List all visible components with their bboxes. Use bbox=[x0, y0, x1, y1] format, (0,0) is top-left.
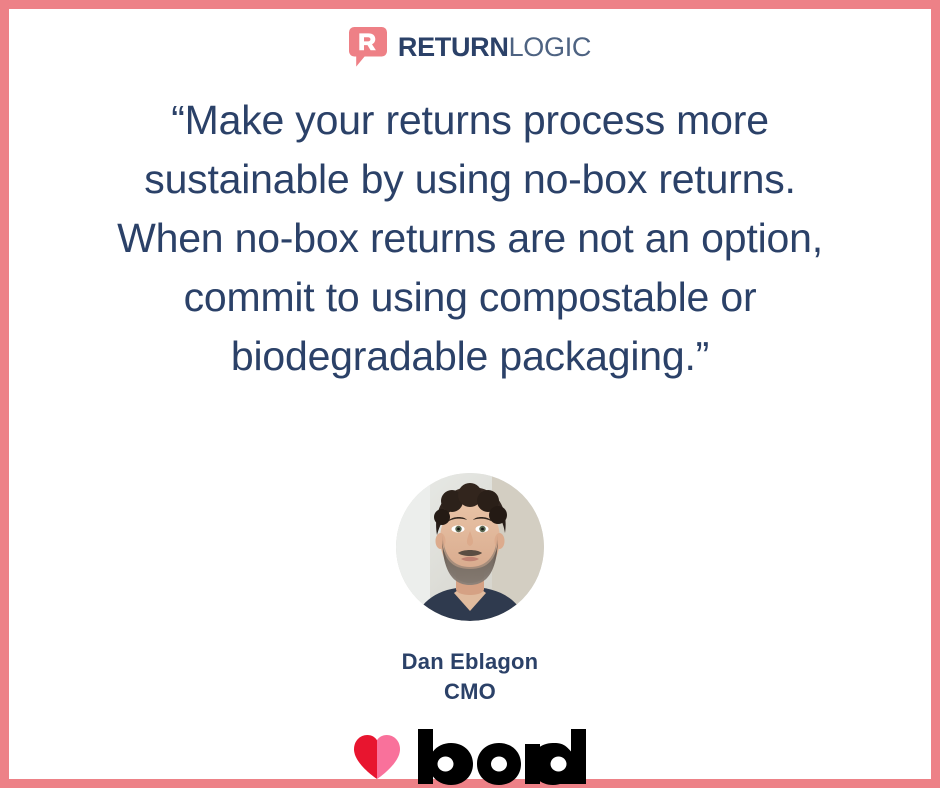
quote-line: When no-box returns are not an option, bbox=[70, 209, 870, 268]
person-title: CMO bbox=[402, 677, 539, 707]
returnlogic-wordmark: RETURNLOGIC bbox=[398, 34, 591, 61]
quote-line: sustainable by using no-box returns. bbox=[70, 150, 870, 209]
quote-card: RETURNLOGIC “Make your returns process m… bbox=[0, 0, 940, 788]
returnlogic-r-mark-icon bbox=[349, 27, 387, 67]
card-inner: RETURNLOGIC “Make your returns process m… bbox=[9, 9, 931, 779]
quote-line: biodegradable packaging.” bbox=[70, 327, 870, 386]
returnlogic-logo: RETURNLOGIC bbox=[349, 27, 591, 67]
quote-line: “Make your returns process more bbox=[70, 91, 870, 150]
person-name: Dan Eblagon bbox=[402, 647, 539, 677]
quote-line: commit to using compostable or bbox=[70, 268, 870, 327]
person-headshot-photo bbox=[396, 473, 544, 621]
attribution: Dan Eblagon CMO bbox=[402, 647, 539, 707]
bond-logo bbox=[352, 729, 588, 785]
heart-icon bbox=[352, 734, 402, 780]
brand-word-return: RETURN bbox=[398, 34, 509, 61]
quote-text: “Make your returns process more sustaina… bbox=[70, 91, 870, 386]
bond-wordmark bbox=[416, 729, 588, 785]
avatar bbox=[396, 473, 544, 621]
brand-word-logic: LOGIC bbox=[509, 34, 592, 61]
